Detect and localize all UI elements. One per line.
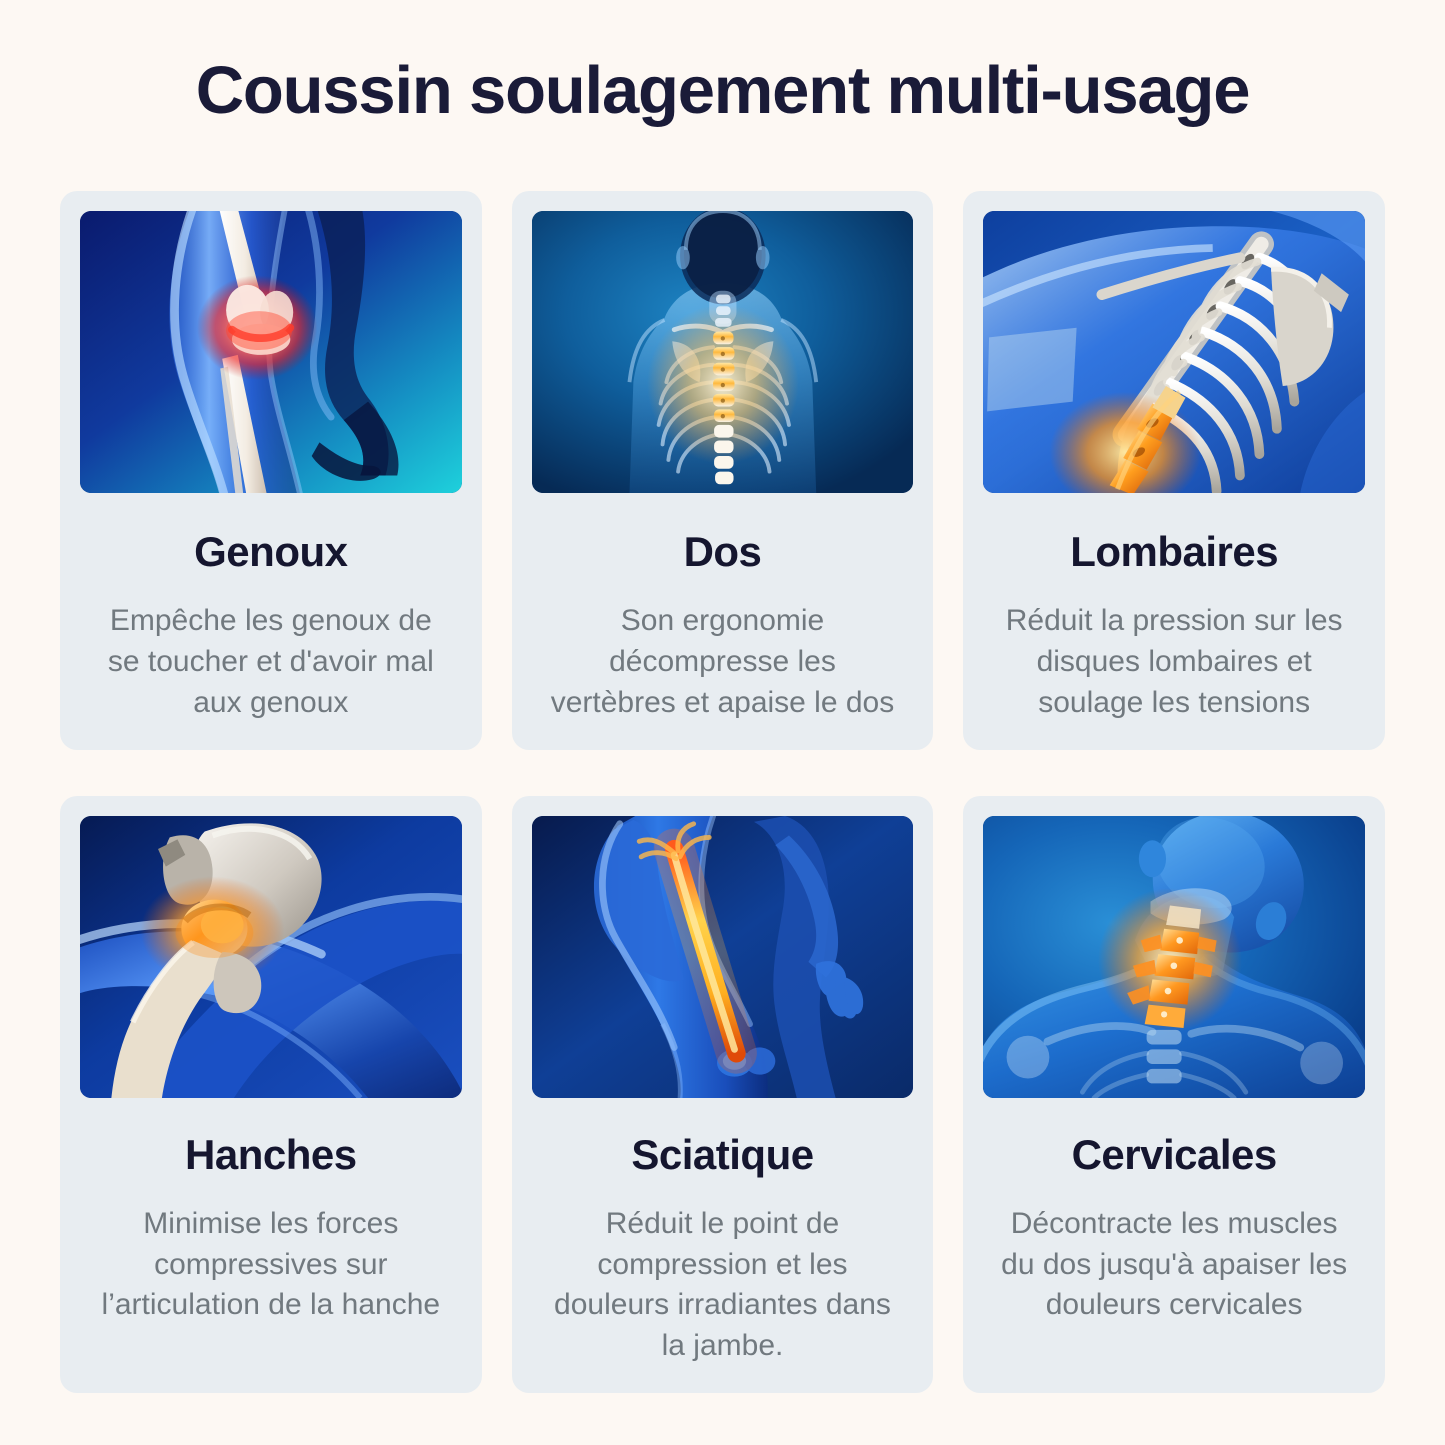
page-title: Coussin soulagement multi-usage — [60, 0, 1385, 129]
cervical-spine-illustration — [983, 816, 1365, 1098]
benefit-card-sciatique[interactable]: Sciatique Réduit le point de compression… — [512, 796, 934, 1393]
benefits-grid: Genoux Empêche les genoux de se toucher … — [60, 191, 1385, 1393]
sciatic-nerve-illustration — [532, 816, 914, 1098]
card-title: Dos — [684, 529, 762, 575]
card-title: Genoux — [194, 529, 347, 575]
card-description: Réduit le point de compression et les do… — [542, 1204, 902, 1367]
benefit-card-dos[interactable]: Dos Son ergonomie décompresse les vertèb… — [512, 191, 934, 750]
card-description: Son ergonomie décompresse les vertèbres … — [542, 601, 902, 723]
benefit-card-genoux[interactable]: Genoux Empêche les genoux de se toucher … — [60, 191, 482, 750]
infographic-page: Coussin soulagement multi-usage — [0, 0, 1445, 1445]
lumbar-spine-illustration — [983, 211, 1365, 493]
card-description: Empêche les genoux de se toucher et d'av… — [91, 601, 451, 723]
card-title: Lombaires — [1070, 529, 1278, 575]
benefit-card-cervicales[interactable]: Cervicales Décontracte les muscles du do… — [963, 796, 1385, 1393]
card-description: Décontracte les muscles du dos jusqu'à a… — [994, 1204, 1354, 1326]
benefit-card-hanches[interactable]: Hanches Minimise les forces compressives… — [60, 796, 482, 1393]
knee-pain-illustration — [80, 211, 462, 493]
card-title: Hanches — [185, 1132, 357, 1178]
card-description: Minimise les forces compressives sur l’a… — [91, 1204, 451, 1326]
card-description: Réduit la pression sur les disques lomba… — [994, 601, 1354, 723]
card-title: Cervicales — [1072, 1132, 1277, 1178]
hip-joint-illustration — [80, 816, 462, 1098]
back-spine-illustration — [532, 211, 914, 493]
benefit-card-lombaires[interactable]: Lombaires Réduit la pression sur les dis… — [963, 191, 1385, 750]
card-title: Sciatique — [631, 1132, 813, 1178]
